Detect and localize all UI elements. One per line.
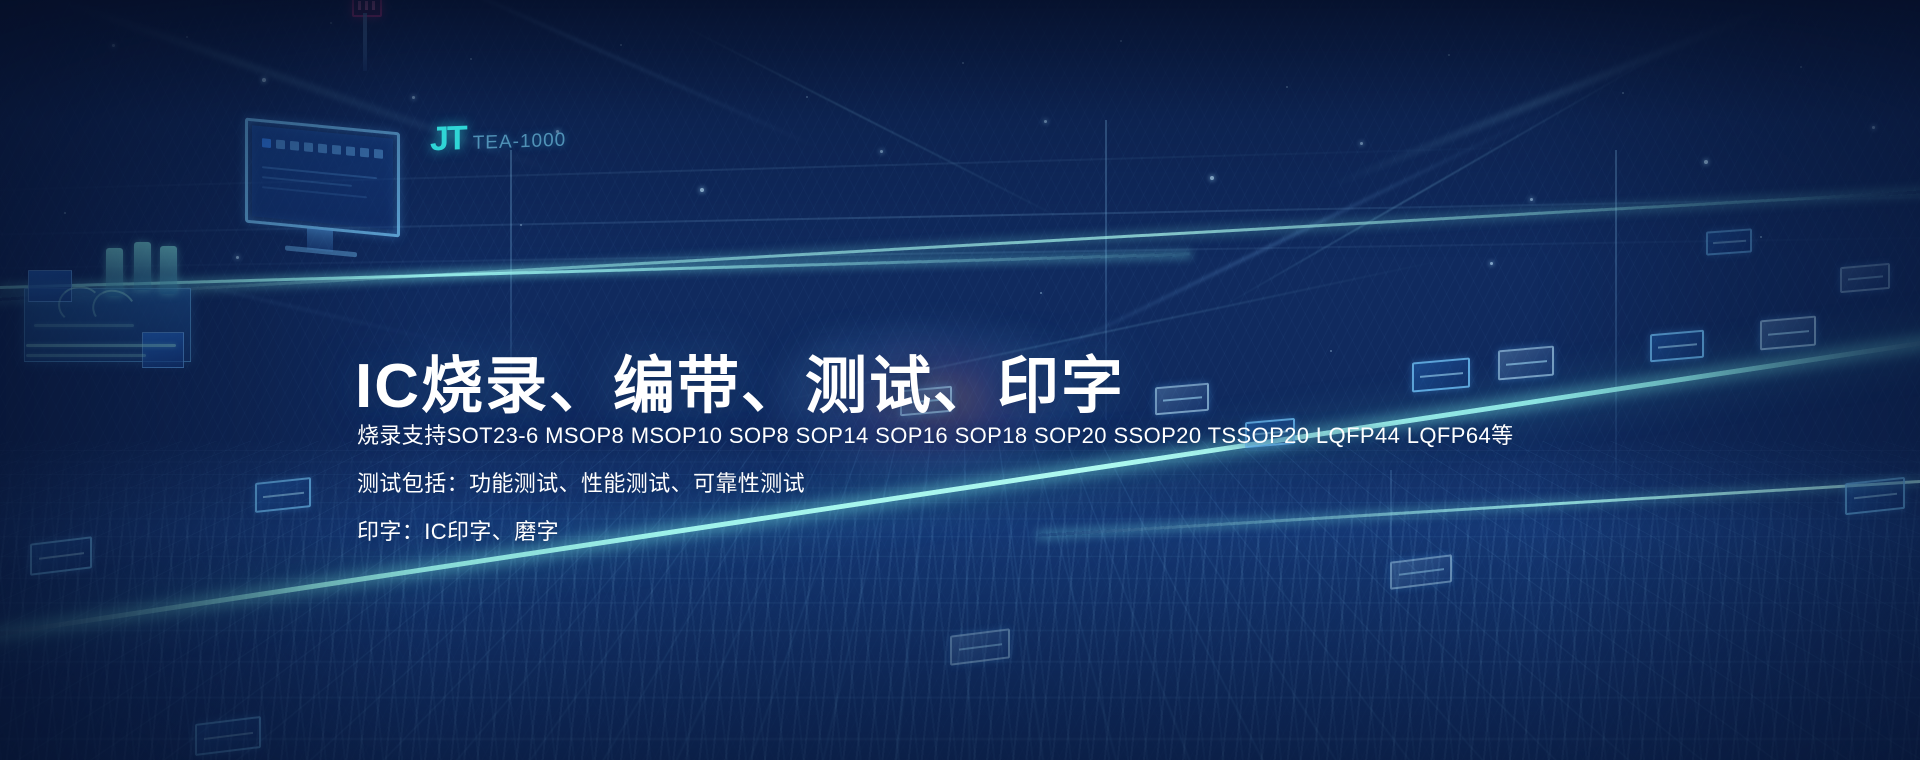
ic-service-banner: JT TEA-1000 IC烧录、编带、测试、印字 烧录支持SOT23-6 MS… — [0, 0, 1920, 760]
machine-model-text: TEA-1000 — [473, 130, 567, 155]
machine-brand-mark: JT TEA-1000 — [430, 116, 566, 160]
jt-logo-text: JT — [430, 119, 466, 159]
marking-service-line: 印字：IC印字、磨字 — [357, 521, 1514, 543]
service-detail-list: 烧录支持SOT23-6 MSOP8 MSOP10 SOP8 SOP14 SOP1… — [357, 425, 1514, 569]
burn-support-line: 烧录支持SOT23-6 MSOP8 MSOP10 SOP8 SOP14 SOP1… — [357, 425, 1514, 447]
page-title: IC烧录、编带、测试、印字 — [355, 354, 1125, 419]
banner-content: JT TEA-1000 IC烧录、编带、测试、印字 烧录支持SOT23-6 MS… — [0, 0, 1920, 760]
test-scope-line: 测试包括：功能测试、性能测试、可靠性测试 — [357, 473, 1514, 495]
